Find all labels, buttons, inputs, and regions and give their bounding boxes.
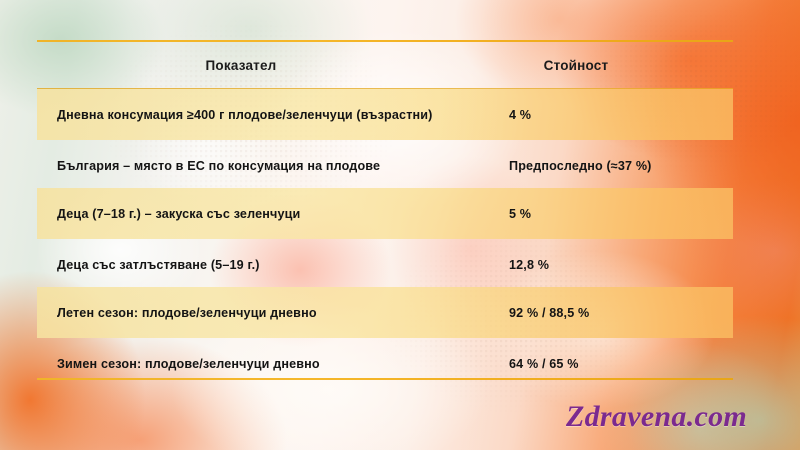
row-value: 4 % xyxy=(505,108,733,122)
table-header-row: Показател Стойност xyxy=(37,42,733,88)
row-label: Деца (7–18 г.) – закуска със зеленчуци xyxy=(37,207,505,221)
row-value: 5 % xyxy=(505,207,733,221)
table-row: България – място в ЕС по консумация на п… xyxy=(37,140,733,191)
table-row: Летен сезон: плодове/зеленчуци дневно 92… xyxy=(37,287,733,338)
column-header-indicator: Показател xyxy=(37,58,505,73)
row-value: Предпоследно (≈37 %) xyxy=(505,159,733,173)
row-label: България – място в ЕС по консумация на п… xyxy=(37,159,505,173)
slide-canvas: Показател Стойност Дневна консумация ≥40… xyxy=(0,0,800,450)
statistics-table: Показател Стойност Дневна консумация ≥40… xyxy=(37,38,733,382)
row-value: 12,8 % xyxy=(505,258,733,272)
row-label: Деца със затлъстяване (5–19 г.) xyxy=(37,258,505,272)
table-row: Дневна консумация ≥400 г плодове/зеленчу… xyxy=(37,89,733,140)
row-label: Зимен сезон: плодове/зеленчуци дневно xyxy=(37,357,505,371)
table-row: Деца със затлъстяване (5–19 г.) 12,8 % xyxy=(37,239,733,290)
site-watermark: Zdravena.com xyxy=(566,400,747,434)
table-row: Зимен сезон: плодове/зеленчуци дневно 64… xyxy=(37,338,733,389)
row-value: 64 % / 65 % xyxy=(505,357,733,371)
column-header-value: Стойност xyxy=(505,58,733,73)
table-row: Деца (7–18 г.) – закуска със зеленчуци 5… xyxy=(37,188,733,239)
table-bottom-rule xyxy=(37,378,733,380)
row-label: Дневна консумация ≥400 г плодове/зеленчу… xyxy=(37,108,505,122)
row-label: Летен сезон: плодове/зеленчуци дневно xyxy=(37,306,505,320)
row-value: 92 % / 88,5 % xyxy=(505,306,733,320)
